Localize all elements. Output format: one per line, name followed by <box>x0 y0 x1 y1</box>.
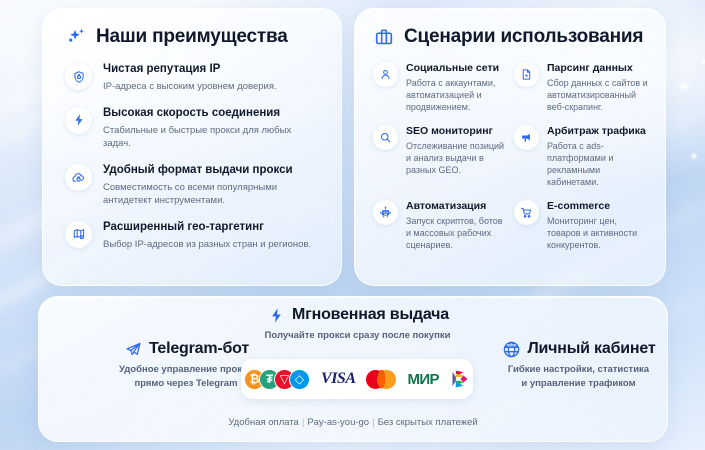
usecase-item-automation: Автоматизация Запуск скриптов, ботов и м… <box>373 200 508 251</box>
lightning-bolt-icon <box>266 305 286 325</box>
footer-part-1: Удобная оплата <box>228 417 298 428</box>
personal-account-block: WWW Личный кабинет Гибкие настройки, ста… <box>471 339 686 391</box>
www-globe-icon: WWW <box>502 339 522 359</box>
personal-account-subtitle-line1: Гибкие настройки, статистика <box>471 363 686 377</box>
usecase-item-title: Арбитраж трафика <box>547 125 649 138</box>
benefit-item-desc: Выбор IP-адресов из разных стран и регио… <box>103 238 311 251</box>
usecase-item-desc: Работа с аккаунтами, автоматизацией и пр… <box>406 77 508 113</box>
usecase-item-title: SEO мониторинг <box>406 125 508 138</box>
benefit-item-title: Удобный формат выдачи прокси <box>103 164 321 178</box>
robot-icon <box>373 200 398 225</box>
benefit-item-speed: Высокая скорость соединения Стабильные и… <box>65 106 321 150</box>
usecase-item-ecommerce: E-commerce Мониторинг цен, товаров и акт… <box>514 200 649 251</box>
usecase-item-traffic-arbitrage: Арбитраж трафика Работа с ads-платформам… <box>514 125 649 188</box>
usecase-item-social: Социальные сети Работа с аккаунтами, авт… <box>373 62 508 113</box>
shopping-cart-icon <box>514 200 539 225</box>
mastercard-logo <box>366 370 396 389</box>
usecase-item-desc: Работа с ads-платформами и рекламными ка… <box>547 140 649 189</box>
mir-logo-text: МИР <box>407 371 438 388</box>
footer-part-3: Без скрытых платежей <box>378 417 478 428</box>
instant-delivery-title: Мгновенная выдача <box>292 306 449 324</box>
usecase-item-desc: Сбор данных с сайтов и автоматизированны… <box>547 77 649 113</box>
benefit-item-title: Расширенный гео-таргетинг <box>103 221 311 235</box>
crypto-coins-group: ₿ ₮ ▽ ◇ <box>244 369 310 390</box>
benefits-card: Наши преимущества Чистая репутация IP IP… <box>42 8 342 286</box>
bottom-card: Мгновенная выдача Получайте прокси сразу… <box>38 296 668 442</box>
ton-coin-icon: ◇ <box>289 369 310 390</box>
usecase-item-title: Автоматизация <box>406 200 508 213</box>
footer-separator: | <box>369 417 377 428</box>
benefit-item-title: Высокая скорость соединения <box>103 107 321 121</box>
personal-account-title: Личный кабинет <box>528 340 656 358</box>
usecase-item-desc: Запуск скриптов, ботов и массовых рабочи… <box>406 215 508 251</box>
svg-text:WWW: WWW <box>507 343 517 347</box>
usecase-item-title: Парсинг данных <box>547 62 649 75</box>
benefit-item-proxy-format: Удобный формат выдачи прокси Совместимос… <box>65 163 321 207</box>
mir-logo: МИР <box>407 371 438 388</box>
usecase-item-desc: Отслеживание позиций и анализ выдачи в р… <box>406 140 508 176</box>
sbp-logo <box>450 369 470 389</box>
usecase-item-seo: SEO мониторинг Отслеживание позиций и ан… <box>373 125 508 188</box>
cloud-lock-icon <box>65 164 92 191</box>
usecases-card: Сценарии использования Социальные сети Р… <box>354 8 666 286</box>
document-icon <box>514 62 539 87</box>
usecases-card-header: Сценарии использования <box>373 26 649 48</box>
benefits-card-header: Наши преимущества <box>65 26 321 48</box>
lightning-bolt-icon <box>65 107 92 134</box>
benefits-card-title: Наши преимущества <box>96 26 288 48</box>
usecases-card-title: Сценарии использования <box>404 26 643 48</box>
telegram-bot-title: Telegram-бот <box>149 340 249 358</box>
instant-delivery-block: Мгновенная выдача Получайте прокси сразу… <box>235 305 480 343</box>
benefit-item-desc: IP-адреса с высоким уровнем доверия. <box>103 80 277 93</box>
benefit-item-ip-reputation: Чистая репутация IP IP-адреса с высоким … <box>65 62 321 93</box>
briefcase-icon <box>373 26 395 48</box>
benefit-item-desc: Стабильные и быстрые прокси для любых за… <box>103 124 321 150</box>
usecase-item-desc: Мониторинг цен, товаров и активности кон… <box>547 215 649 251</box>
usecase-item-title: Социальные сети <box>406 62 508 75</box>
usecases-grid: Социальные сети Работа с аккаунтами, авт… <box>373 62 649 251</box>
usecase-item-title: E-commerce <box>547 200 649 213</box>
benefit-item-geo-targeting: Расширенный гео-таргетинг Выбор IP-адрес… <box>65 220 321 251</box>
search-icon <box>373 125 398 150</box>
megaphone-icon <box>514 125 539 150</box>
personal-account-subtitle-line2: и управление трафиком <box>471 377 686 391</box>
shield-lock-icon <box>65 63 92 90</box>
payment-methods-pill: ₿ ₮ ▽ ◇ VISA МИР <box>241 359 473 399</box>
benefit-item-desc: Совместимость со всеми популярными антид… <box>103 181 321 207</box>
footer-part-2: Pay-as-you-go <box>307 417 369 428</box>
telegram-plane-icon <box>123 339 143 359</box>
visa-logo: VISA <box>321 370 355 388</box>
usecase-item-parsing: Парсинг данных Сбор данных с сайтов и ав… <box>514 62 649 113</box>
benefit-item-title: Чистая репутация IP <box>103 63 277 77</box>
map-pin-icon <box>65 221 92 248</box>
sparkle-icon <box>65 26 87 48</box>
user-icon <box>373 62 398 87</box>
payment-footer-note: Удобная оплата|Pay-as-you-go|Без скрытых… <box>39 417 667 428</box>
